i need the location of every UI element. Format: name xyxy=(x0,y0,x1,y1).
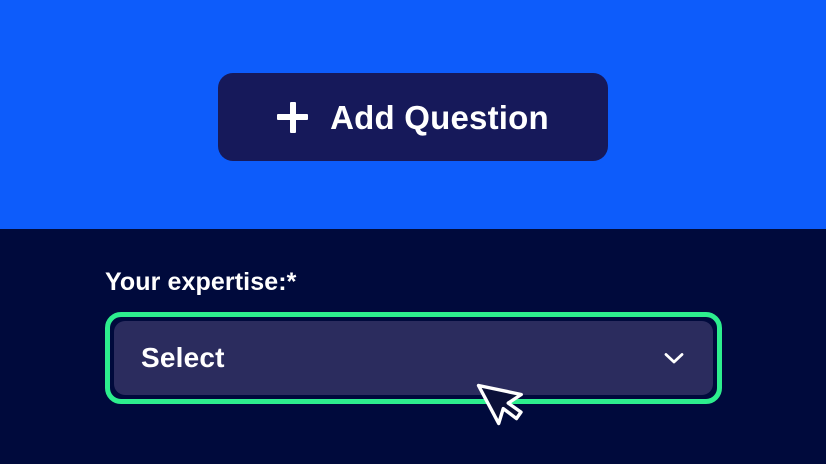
chevron-down-icon[interactable] xyxy=(661,345,687,371)
expertise-label-text: Your expertise: xyxy=(105,268,287,296)
expertise-select[interactable]: Select xyxy=(114,321,713,395)
required-asterisk: * xyxy=(287,268,297,296)
expertise-field-label: Your expertise:* xyxy=(105,266,297,299)
app-screen: Add Question Your expertise:* Select xyxy=(0,0,826,464)
add-question-button[interactable]: Add Question xyxy=(218,73,608,161)
expertise-select-focus-ring: Select xyxy=(105,312,722,404)
add-question-button-label: Add Question xyxy=(330,101,549,134)
plus-icon xyxy=(277,102,308,133)
expertise-select-value: Select xyxy=(141,344,225,372)
